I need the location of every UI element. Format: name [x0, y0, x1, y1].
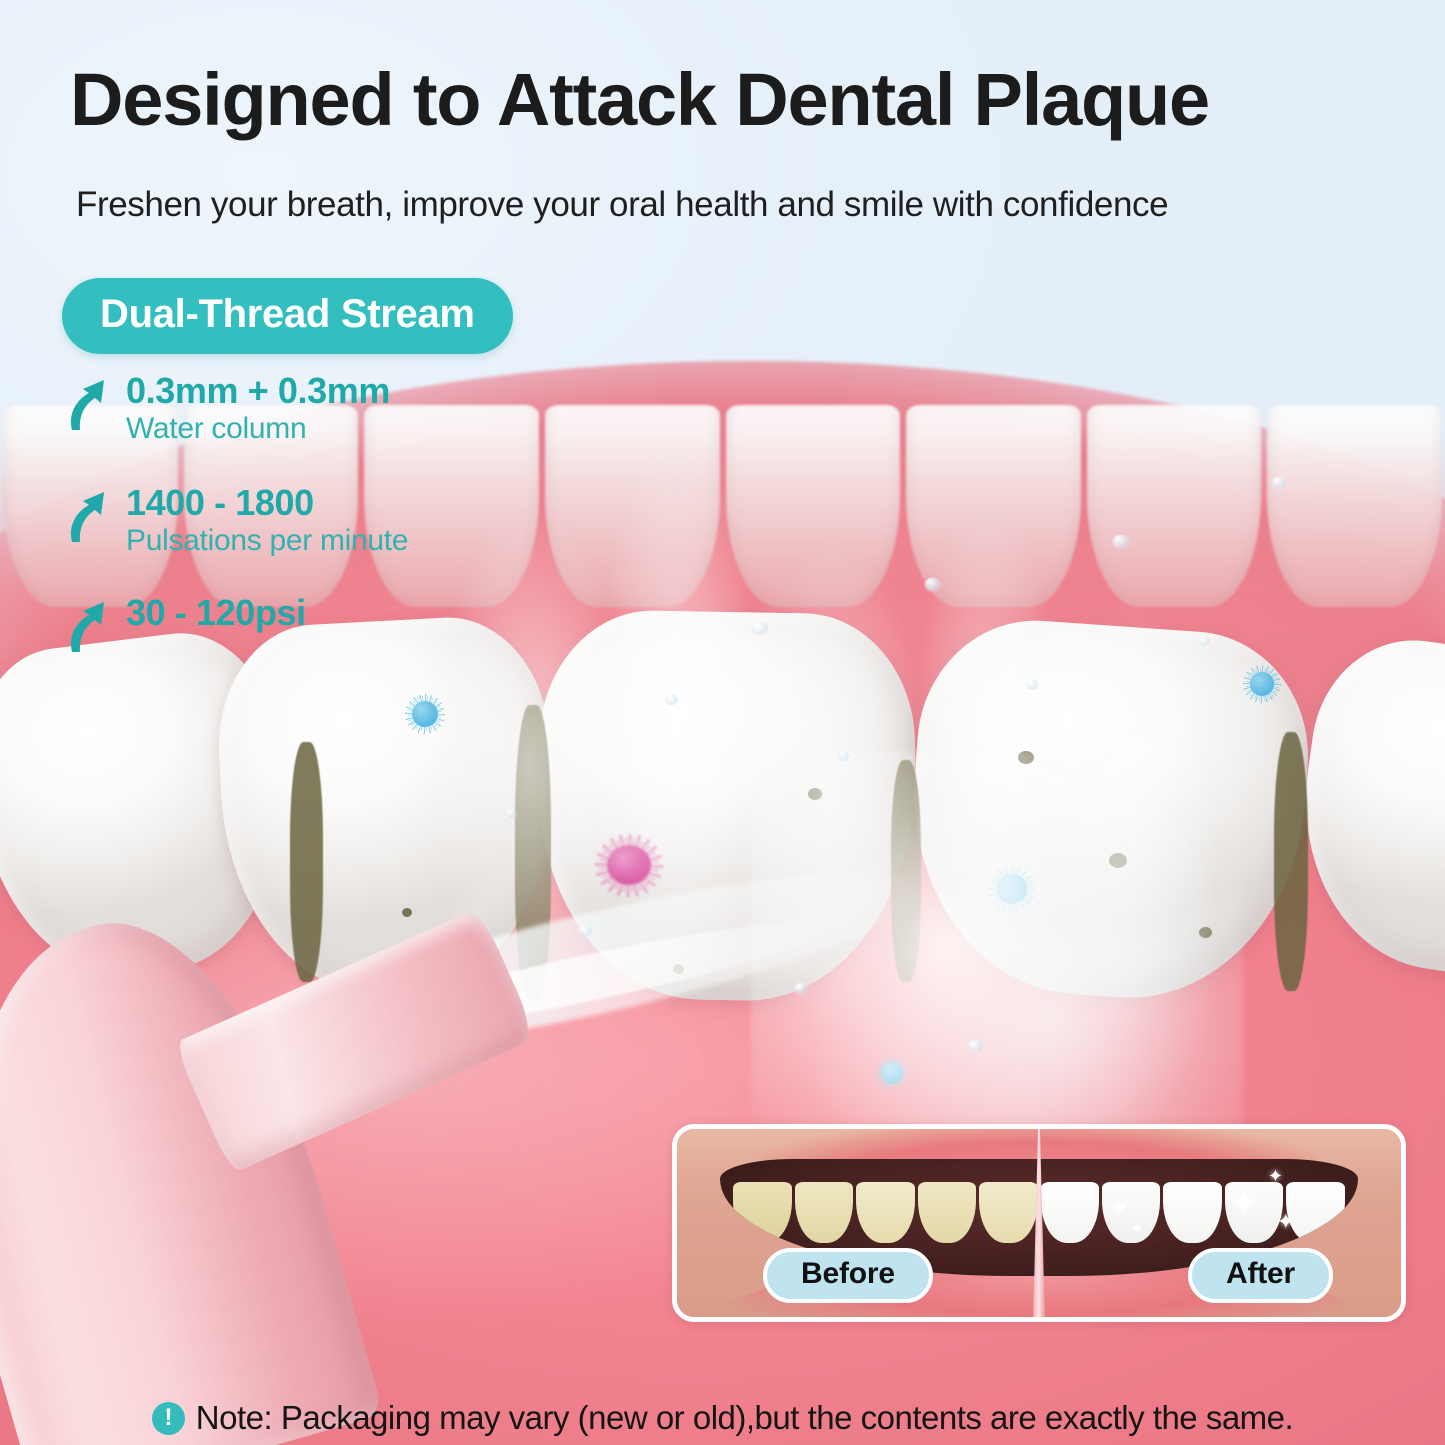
- feature-value: 0.3mm + 0.3mm: [126, 372, 584, 410]
- sparkle-icon: ✦: [1109, 1197, 1129, 1221]
- up-arrow-icon: [64, 596, 110, 654]
- before-label: Before: [763, 1248, 933, 1303]
- after-label: After: [1188, 1248, 1333, 1303]
- feature-subtitle: Pulsations per minute: [126, 523, 584, 558]
- packaging-note-text: Note: Packaging may vary (new or old),bu…: [196, 1399, 1293, 1437]
- feature-list: 0.3mm + 0.3mm Water column 1400 - 1800 P…: [64, 372, 584, 694]
- up-arrow-icon: [64, 374, 110, 432]
- irrigator-nozzle: [0, 925, 535, 1445]
- water-droplet: [1026, 679, 1038, 690]
- feature-badge: Dual-Thread Stream: [62, 278, 513, 354]
- sparkle-icon: ✦: [1131, 1221, 1143, 1235]
- water-droplet: [578, 925, 592, 937]
- before-after-comparison: ✦ ✦ ✦ ✦ ✦ Before After: [672, 1124, 1406, 1322]
- water-droplet: [1272, 477, 1286, 489]
- sparkle-icon: ✦: [1277, 1211, 1295, 1233]
- water-droplet: [665, 694, 678, 705]
- water-splash: [751, 751, 1242, 1185]
- white-tooth: [1163, 1182, 1221, 1243]
- white-tooth: [1041, 1182, 1099, 1243]
- water-droplet: [506, 809, 516, 818]
- white-tooth: [1286, 1182, 1344, 1243]
- feature-value: 30 - 120psi: [126, 594, 584, 632]
- packaging-note: ! Note: Packaging may vary (new or old),…: [0, 1399, 1445, 1437]
- stained-tooth: [733, 1182, 791, 1243]
- feature-item: 30 - 120psi: [64, 594, 584, 656]
- feature-subtitle: Water column: [126, 411, 584, 446]
- nozzle-tip: [173, 907, 537, 1174]
- stained-tooth: [918, 1182, 976, 1243]
- stained-tooth: [795, 1182, 853, 1243]
- water-droplet: [795, 983, 807, 994]
- water-droplet: [925, 578, 940, 591]
- page-subtitle: Freshen your breath, improve your oral h…: [76, 185, 1376, 225]
- exclamation-circle-icon: !: [152, 1402, 185, 1435]
- stained-tooth: [979, 1182, 1037, 1243]
- page-title: Designed to Attack Dental Plaque: [70, 62, 1390, 139]
- sparkle-icon: ✦: [1231, 1187, 1260, 1221]
- water-droplet: [1113, 535, 1129, 548]
- feature-value: 1400 - 1800: [126, 484, 584, 522]
- nozzle-shaft: [0, 886, 384, 1445]
- feature-item: 1400 - 1800 Pulsations per minute: [64, 484, 584, 558]
- feature-item: 0.3mm + 0.3mm Water column: [64, 372, 584, 446]
- up-arrow-icon: [64, 486, 110, 544]
- stained-tooth: [856, 1182, 914, 1243]
- sparkle-icon: ✦: [1268, 1167, 1283, 1185]
